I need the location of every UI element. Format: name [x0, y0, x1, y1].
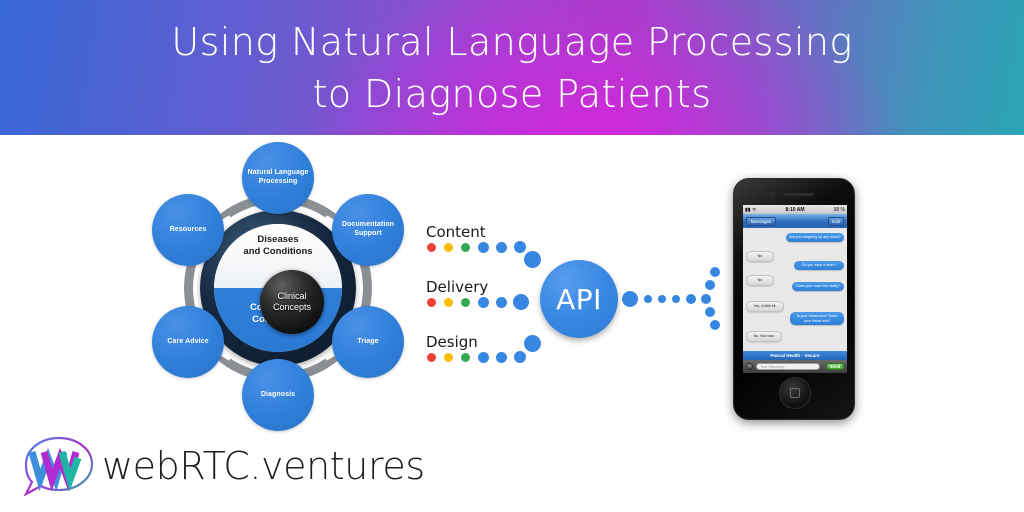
wheel-node-care-advice[interactable]: Care Advice	[152, 306, 224, 378]
message-input-bar: Text Message Send	[743, 360, 847, 373]
api-circle[interactable]: API	[540, 260, 618, 338]
clinical-concepts-wheel-diagram: Diseases and Conditions Coded Chief Comp…	[132, 142, 424, 434]
brand-logo[interactable]: webRTC.ventures	[18, 432, 368, 504]
flow-label-content: Content	[426, 223, 486, 241]
arrow-dot-3	[658, 295, 666, 303]
wheel-node-diagnosis[interactable]: Diagnosis	[242, 359, 314, 431]
flow-dot-design-green	[461, 353, 470, 362]
phone-screen: ▮▮ ᯤ 8:10 AM 98 % Messages Edit Are you …	[743, 205, 847, 373]
screenshot-root: Using Natural Language Processing to Dia…	[0, 0, 1024, 512]
flow-dot-content-green	[461, 243, 470, 252]
flow-dot-content-blue-4	[524, 251, 541, 268]
status-bar-battery: 98 %	[834, 207, 845, 213]
flow-dot-design-yellow	[444, 353, 453, 362]
chat-bubble-patient-2: No	[746, 275, 774, 286]
page-title-line1: Using Natural Language Processing	[171, 20, 852, 64]
chat-bubble-bot-2: Do you have a fever?	[794, 261, 844, 270]
wheel-node-resources-label: Resources	[166, 226, 211, 235]
wheel-node-nlp[interactable]: Natural Language Processing	[242, 142, 314, 214]
wheel-node-documentation-support-label: Documentation Support	[332, 221, 404, 238]
arrow-head-up-2	[710, 267, 720, 277]
brand-wordmark: webRTC.ventures	[102, 444, 425, 488]
arrow-dot-5	[686, 294, 696, 304]
arrow-dot-1	[622, 291, 638, 307]
flow-dot-content-blue-1	[478, 242, 489, 253]
flow-dot-design-red	[427, 353, 436, 362]
smartphone-mockup: ▮▮ ᯤ 8:10 AM 98 % Messages Edit Are you …	[733, 178, 855, 420]
flow-dot-delivery-yellow	[444, 298, 453, 307]
chat-bubble-patient-3: Yes. A little bit.	[746, 301, 784, 312]
chat-thread[interactable]: Are you coughing up any blood? No Do you…	[743, 228, 847, 351]
flow-dot-content-yellow	[444, 243, 453, 252]
page-title-line2: to Diagnose Patients	[0, 68, 1024, 120]
hub-top-line1: Diseases	[257, 234, 298, 245]
flow-dot-content-blue-2	[496, 242, 507, 253]
arrow-dot-2	[644, 295, 652, 303]
wheel-node-care-advice-label: Care Advice	[163, 338, 212, 347]
wheel-node-nlp-label: Natural Language Processing	[242, 169, 314, 186]
wheel-core-label: Clinical Concepts	[273, 291, 311, 313]
header-banner: Using Natural Language Processing to Dia…	[0, 0, 1024, 135]
flow-dot-delivery-green	[461, 298, 470, 307]
hub-top-line2: and Conditions	[243, 246, 312, 257]
flow-dot-delivery-blue-2	[496, 297, 507, 308]
wheel-node-triage-label: Triage	[353, 338, 382, 347]
page-title: Using Natural Language Processing to Dia…	[0, 16, 1024, 120]
back-to-messages-button[interactable]: Messages	[746, 217, 776, 226]
earpiece-speaker-icon	[784, 193, 814, 196]
chat-bubble-patient-4: No. Not now.	[746, 331, 782, 342]
send-button[interactable]: Send	[826, 363, 844, 370]
chat-bubble-bot-4: Is your throat sore? Does your throat hu…	[790, 312, 844, 325]
wheel-node-diagnosis-label: Diagnosis	[257, 391, 299, 400]
hub-top-label: Diseases and Conditions	[214, 234, 342, 257]
flow-dot-delivery-red	[427, 298, 436, 307]
arrow-head-up-1	[705, 280, 715, 290]
flow-label-design: Design	[426, 333, 478, 351]
api-circle-label: API	[556, 283, 602, 316]
flow-dot-design-blue-1	[478, 352, 489, 363]
secure-session-bar: Pascal Health - Secure	[743, 351, 847, 360]
arrow-head-down-1	[705, 307, 715, 317]
flow-label-delivery: Delivery	[426, 278, 488, 296]
flow-dot-design-blue-2	[496, 352, 507, 363]
flow-dot-delivery-blue-3	[513, 294, 529, 310]
wheel-node-resources[interactable]: Resources	[152, 194, 224, 266]
wheel-core-sphere: Clinical Concepts	[260, 270, 324, 334]
wheel-hub-inner: Diseases and Conditions Coded Chief Comp…	[214, 224, 342, 352]
arrow-dot-6	[701, 294, 711, 304]
status-bar: ▮▮ ᯤ 8:10 AM 98 %	[743, 205, 847, 214]
messages-nav-bar: Messages Edit	[743, 214, 847, 229]
flow-dot-content-red	[427, 243, 436, 252]
arrow-head-down-2	[710, 320, 720, 330]
wheel-node-documentation-support[interactable]: Documentation Support	[332, 194, 404, 266]
front-camera-icon	[770, 192, 775, 197]
chat-bubble-patient-1: No	[746, 251, 774, 262]
core-line1: Clinical	[277, 291, 306, 301]
chat-bubble-bot-1: Are you coughing up any blood?	[786, 233, 844, 242]
core-line2: Concepts	[273, 302, 311, 312]
flow-dot-design-blue-3	[514, 351, 526, 363]
status-bar-time: 8:10 AM	[743, 207, 847, 213]
wheel-node-triage[interactable]: Triage	[332, 306, 404, 378]
edit-button[interactable]: Edit	[828, 217, 844, 226]
camera-icon[interactable]	[746, 363, 753, 370]
home-button-square	[790, 388, 800, 398]
message-input[interactable]: Text Message	[756, 363, 820, 370]
flow-dot-content-blue-3	[514, 241, 526, 253]
flow-dot-design-blue-4	[524, 335, 541, 352]
arrow-dot-4	[672, 295, 680, 303]
home-button-icon[interactable]	[779, 377, 811, 409]
api-flow-diagram: Content Delivery Design API	[420, 215, 720, 365]
webrtc-w-speech-bubble-icon	[18, 432, 100, 502]
chat-bubble-bot-3: Does your nose feel stuffy?	[792, 282, 844, 291]
flow-dot-delivery-blue-1	[478, 297, 489, 308]
